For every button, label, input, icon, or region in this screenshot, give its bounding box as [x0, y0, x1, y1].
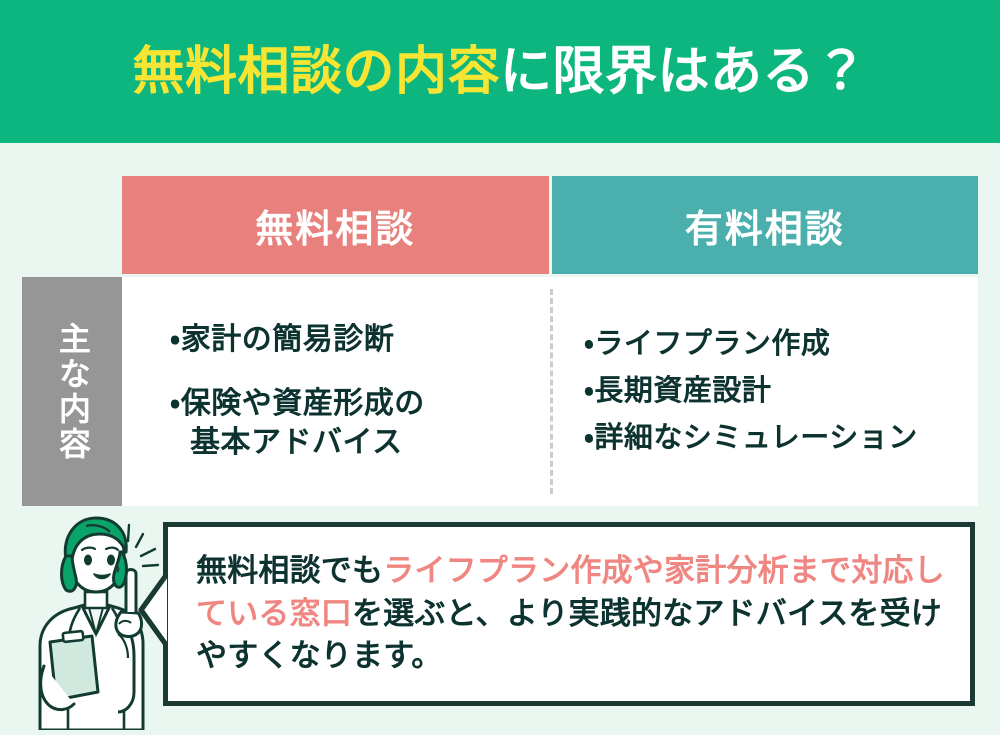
- page-title-highlight: 無料相談の内容: [132, 43, 500, 101]
- table-row: 主な内容 ・家計の簡易診断 ・保険や資産形成の 基本アドバイス ・ライフプラン作…: [22, 277, 978, 506]
- list-item: ・長期資産設計: [584, 373, 978, 410]
- callout-box: 無料相談でもライフプラン作成や家計分析まで対応している窓口を選ぶと、より実践的な…: [163, 522, 975, 706]
- cell-divider: [550, 289, 553, 494]
- list-item: ・家計の簡易診断: [170, 321, 564, 359]
- comparison-table: 無料相談 有料相談 主な内容 ・家計の簡易診断 ・保険や資産形成の 基本アドバイ…: [22, 176, 978, 506]
- table-column-headers: 無料相談 有料相談: [122, 176, 978, 274]
- page-title-plain: に限界はある？: [500, 43, 868, 101]
- header-banner: 無料相談の内容に限界はある？: [0, 0, 1000, 143]
- page-title: 無料相談の内容に限界はある？: [132, 46, 867, 98]
- neck: [85, 592, 107, 608]
- eye-left: [84, 555, 92, 566]
- list-item: ・詳細なシミュレーション: [584, 420, 978, 457]
- list-item: ・保険や資産形成の 基本アドバイス: [170, 385, 564, 462]
- list-item: ・ライフプラン作成: [584, 326, 978, 363]
- callout-text: 無料相談でもライフプラン作成や家計分析まで対応している窓口を選ぶと、より実践的な…: [168, 550, 970, 678]
- table-cells: ・家計の簡易診断 ・保険や資産形成の 基本アドバイス ・ライフプラン作成 ・長期…: [122, 277, 978, 506]
- cell-paid-consultation: ・ライフプラン作成 ・長期資産設計 ・詳細なシミュレーション: [564, 277, 978, 506]
- eye-right: [107, 555, 115, 566]
- row-label-main-content: 主な内容: [22, 277, 122, 506]
- column-header-paid: 有料相談: [552, 176, 979, 274]
- column-header-free: 無料相談: [122, 176, 549, 274]
- callout-segment-plain-1: 無料相談でも: [196, 553, 383, 588]
- callout-pointer: [137, 572, 167, 648]
- cell-free-consultation: ・家計の簡易診断 ・保険や資産形成の 基本アドバイス: [122, 277, 564, 506]
